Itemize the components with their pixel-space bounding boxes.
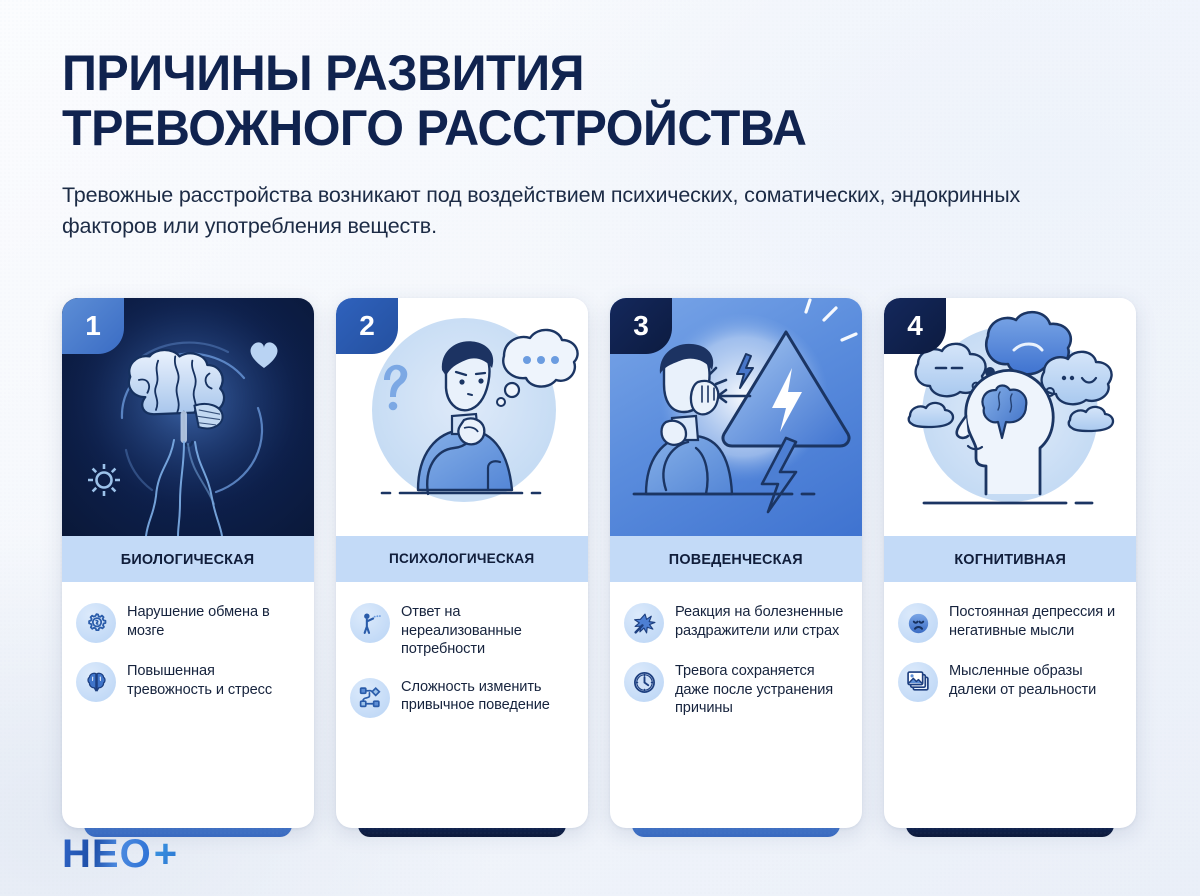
brain-network-illustration: 1 (62, 298, 314, 536)
list-item[interactable]: Реакция на болезненные раздражители или … (624, 602, 846, 643)
list-item-text: Постоянная депрессия и негативные мысли (949, 602, 1120, 640)
title-line-2: ТРЕВОЖНОГО РАССТРОЙСТВА (62, 101, 1110, 156)
cards-row: 1 БИОЛОГИЧЕСКАЯ Наруше (62, 298, 1142, 828)
card-biological[interactable]: 1 БИОЛОГИЧЕСКАЯ Наруше (62, 298, 314, 828)
gear-metabolism-icon (76, 603, 116, 643)
list-item-text: Сложность изменить привычное поведение (401, 677, 572, 715)
card-behavioral[interactable]: 3 ПОВЕДЕНЧЕСКАЯ Реакция на болезненные (610, 298, 862, 828)
card-label: КОГНИТИВНАЯ (954, 551, 1066, 568)
head-profile-thought-clouds-illustration: 4 (884, 298, 1136, 536)
list-item-text: Мысленные образы далеки от реальности (949, 661, 1120, 699)
page-title: ПРИЧИНЫ РАЗВИТИЯ ТРЕВОЖНОГО РАССТРОЙСТВА (62, 46, 1110, 156)
card-label-band: ПСИХОЛОГИЧЕСКАЯ (336, 536, 588, 582)
logo-text: НЕО (62, 834, 152, 874)
card-label: БИОЛОГИЧЕСКАЯ (121, 551, 255, 568)
card-items-list: Постоянная депрессия и негативные мысли (884, 582, 1136, 828)
card-label: ПСИХОЛОГИЧЕСКАЯ (389, 551, 534, 567)
card-number-badge: 4 (884, 298, 946, 354)
person-reaching-icon (350, 603, 390, 643)
list-item-text: Реакция на болезненные раздражители или … (675, 602, 846, 640)
list-item[interactable]: Постоянная депрессия и негативные мысли (898, 602, 1120, 643)
startled-person-warning-illustration: 3 (610, 298, 862, 536)
list-item-text: Ответ на нереализованные потребности (401, 602, 572, 659)
card-label-band: КОГНИТИВНАЯ (884, 536, 1136, 582)
photos-icon (898, 662, 938, 702)
list-item[interactable]: Ответ на нереализованные потребности (350, 602, 572, 659)
list-item-text: Нарушение обмена в мозге (127, 602, 298, 640)
flowchart-icon (350, 678, 390, 718)
card-label-band: ПОВЕДЕНЧЕСКАЯ (610, 536, 862, 582)
logo-plus-icon: + (154, 834, 177, 874)
sad-face-icon (898, 603, 938, 643)
card-number-badge: 3 (610, 298, 672, 354)
list-item[interactable]: Повышенная тревожность и стресс (76, 661, 298, 702)
card-label-band: БИОЛОГИЧЕСКАЯ (62, 536, 314, 582)
list-item[interactable]: Мысленные образы далеки от реальности (898, 661, 1120, 702)
header: ПРИЧИНЫ РАЗВИТИЯ ТРЕВОЖНОГО РАССТРОЙСТВА… (62, 46, 1142, 241)
list-item[interactable]: Сложность изменить привычное поведение (350, 677, 572, 718)
list-item[interactable]: Нарушение обмена в мозге (76, 602, 298, 643)
brain-icon (76, 662, 116, 702)
title-line-1: ПРИЧИНЫ РАЗВИТИЯ (62, 45, 584, 101)
clock-icon (624, 662, 664, 702)
page-subtitle: Тревожные расстройства возникают под воз… (62, 180, 1022, 241)
card-items-list: Реакция на болезненные раздражители или … (610, 582, 862, 828)
infographic-page: ПРИЧИНЫ РАЗВИТИЯ ТРЕВОЖНОГО РАССТРОЙСТВА… (0, 0, 1200, 896)
card-cognitive[interactable]: 4 КОГНИТИВНАЯ (884, 298, 1136, 828)
card-psychological[interactable]: 2 ПСИХОЛОГИЧЕСКАЯ (336, 298, 588, 828)
card-items-list: Нарушение обмена в мозге (62, 582, 314, 828)
list-item[interactable]: Тревога сохраняется даже после устранени… (624, 661, 846, 718)
card-label: ПОВЕДЕНЧЕСКАЯ (669, 551, 803, 568)
thinking-person-illustration: 2 (336, 298, 588, 536)
card-number-badge: 2 (336, 298, 398, 354)
list-item-text: Тревога сохраняется даже после устранени… (675, 661, 846, 718)
burst-impact-icon (624, 603, 664, 643)
brand-logo: НЕО + (62, 834, 177, 874)
card-items-list: Ответ на нереализованные потребности (336, 582, 588, 828)
card-number-badge: 1 (62, 298, 124, 354)
list-item-text: Повышенная тревожность и стресс (127, 661, 298, 699)
